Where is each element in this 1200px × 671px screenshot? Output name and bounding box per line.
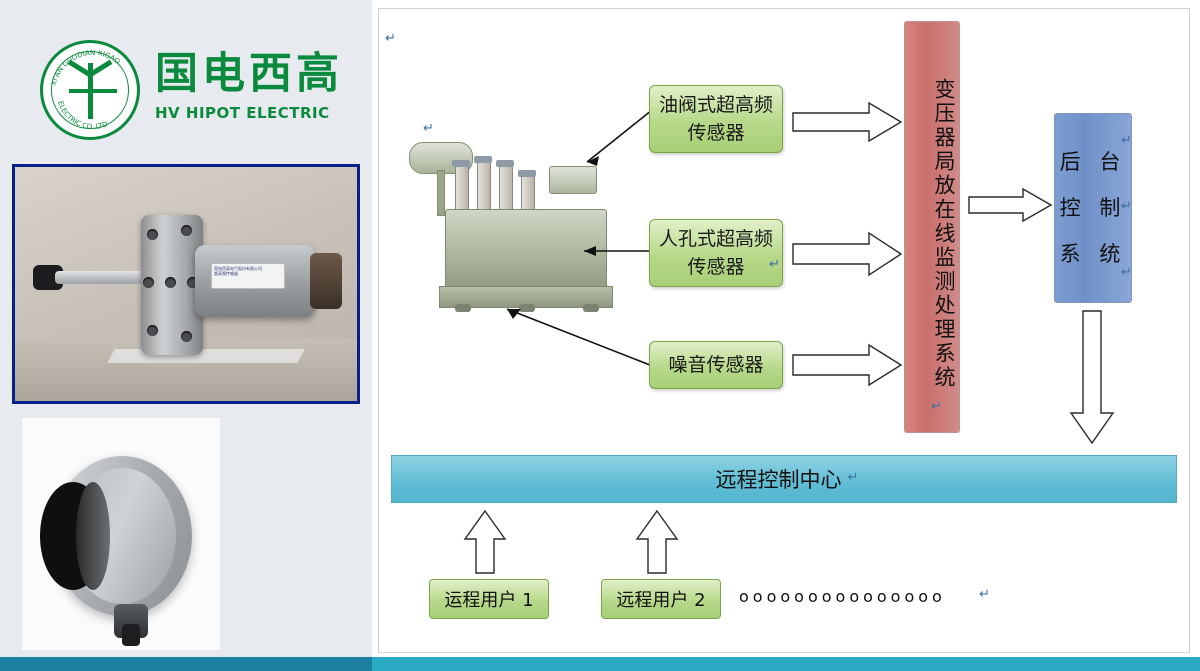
arrow-noise-to-central — [791, 343, 903, 387]
sensor-box-manhole[interactable]: 人孔式超高频传感器 — [649, 219, 783, 287]
brand-name-en: HV HIPOT ELECTRIC — [155, 104, 343, 122]
remote-control-center-box[interactable]: 远程控制中心 ↵ — [391, 455, 1177, 503]
backend-line-1: 后 台 — [1060, 139, 1127, 185]
arrow-oil-to-central — [791, 101, 903, 143]
remote-user-1-box[interactable]: 运程用户 1 — [429, 579, 549, 619]
backend-line-3: 系 统 — [1060, 231, 1127, 277]
pilcrow-mark: ↵ — [979, 587, 990, 602]
pilcrow-mark: ↵ — [385, 31, 396, 46]
brand-logo: XI'AN GUODIAN XIGAO ELECTRIC CO.,LTD 国电西… — [40, 40, 340, 150]
pilcrow-mark: ↵ — [1121, 133, 1132, 148]
logo-emblem-icon: XI'AN GUODIAN XIGAO ELECTRIC CO.,LTD — [40, 40, 140, 140]
footer-bar-left — [0, 657, 372, 671]
central-processing-system-label: 变压器局放在线监测处理系统 — [932, 78, 956, 390]
pilcrow-mark: ↵ — [931, 399, 942, 414]
oil-valve-uhf-sensor-photo: 国电西高电气股份有限公司超高频传感器 — [12, 164, 360, 404]
remote-user-2-box[interactable]: 远程用户 2 — [601, 579, 721, 619]
connector-oil-valve — [579, 104, 659, 174]
left-panel: XI'AN GUODIAN XIGAO ELECTRIC CO.,LTD 国电西… — [0, 0, 372, 671]
connector-manhole — [574, 241, 654, 261]
sensor-box-noise[interactable]: 噪音传感器 — [649, 341, 783, 389]
additional-users-dots: ooooooooooooooo — [739, 587, 946, 606]
sensor-label-oil-valve: 油阀式超高频传感器 — [656, 91, 776, 147]
central-processing-system-box[interactable]: 变压器局放在线监测处理系统 — [904, 21, 960, 433]
arrow-user2-to-remote-center — [635, 509, 679, 575]
arrow-manhole-to-central — [791, 231, 903, 277]
device-nameplate: 国电西高电气股份有限公司超高频传感器 — [211, 263, 285, 289]
connector-noise — [499, 301, 659, 373]
arrow-user1-to-remote-center — [463, 509, 507, 575]
pilcrow-mark: ↵ — [769, 257, 780, 272]
arrow-central-to-backend — [967, 187, 1053, 223]
sensor-box-oil-valve[interactable]: 油阀式超高频传感器 — [649, 85, 783, 153]
system-architecture-diagram: ↵ ↵ — [378, 8, 1190, 653]
sensor-label-noise: 噪音传感器 — [668, 351, 763, 379]
pilcrow-mark: ↵ — [1121, 199, 1132, 214]
svg-text:XI'AN GUODIAN XIGAO: XI'AN GUODIAN XIGAO — [50, 49, 122, 86]
remote-control-center-label: 远程控制中心 — [716, 464, 842, 494]
arrow-backend-to-remote-center — [1069, 309, 1115, 445]
footer-bar — [0, 657, 1200, 671]
svg-text:ELECTRIC CO.,LTD: ELECTRIC CO.,LTD — [56, 100, 109, 131]
backend-line-2: 控 制 — [1060, 185, 1127, 231]
pilcrow-mark: ↵ — [1121, 265, 1132, 280]
sensor-label-manhole: 人孔式超高频传感器 — [656, 225, 776, 281]
remote-user-2-label: 远程用户 2 — [616, 586, 705, 612]
manhole-uhf-sensor-photo — [22, 418, 220, 650]
remote-user-1-label: 运程用户 1 — [444, 586, 533, 612]
brand-name-cn: 国电西高 — [155, 48, 343, 100]
pilcrow-mark: ↵ — [848, 470, 859, 485]
